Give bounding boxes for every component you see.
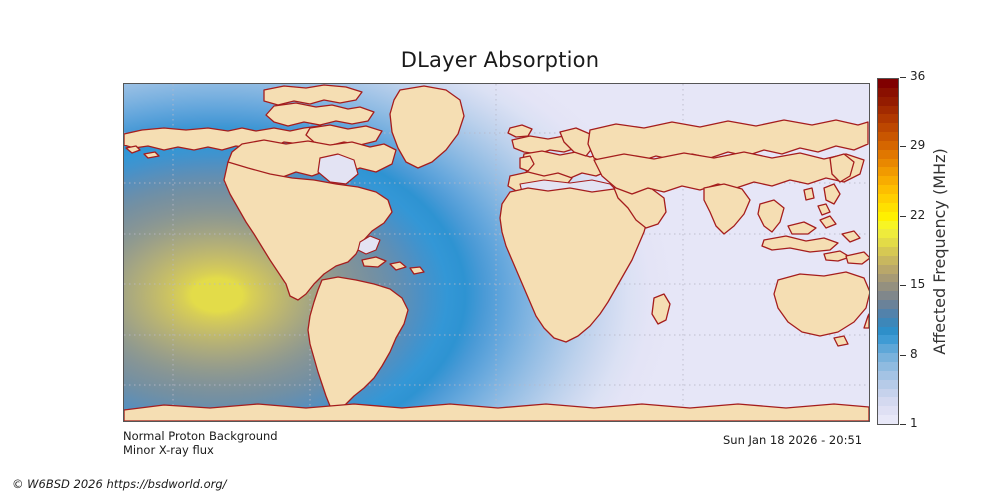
colorbar-segment — [878, 159, 898, 168]
colorbar-tick-label: 36 — [910, 69, 925, 83]
colorbar-segment — [878, 203, 898, 212]
page-title: DLayer Absorption — [0, 48, 1000, 72]
colorbar-segment — [878, 265, 898, 274]
colorbar-segment — [878, 309, 898, 318]
colorbar-segment — [878, 194, 898, 203]
colorbar-segment — [878, 318, 898, 327]
colorbar-tick-mark — [900, 424, 906, 425]
colorbar-segment — [878, 362, 898, 371]
colorbar-segment — [878, 79, 898, 88]
colorbar-segment — [878, 97, 898, 106]
colorbar-segment — [878, 406, 898, 415]
colorbar-tick-label: 8 — [910, 347, 918, 361]
colorbar-segment — [878, 371, 898, 380]
colorbar-segment — [878, 185, 898, 194]
colorbar-tick-mark — [900, 146, 906, 147]
colorbar-tick-label: 15 — [910, 277, 925, 291]
colorbar-segment — [878, 291, 898, 300]
colorbar-segment — [878, 123, 898, 132]
colorbar-segment — [878, 132, 898, 141]
proton-status: Normal Proton Background — [123, 429, 278, 443]
colorbar-segment — [878, 229, 898, 238]
colorbar-segment — [878, 88, 898, 97]
colorbar-segment — [878, 176, 898, 185]
colorbar-segment — [878, 106, 898, 115]
colorbar-segment — [878, 282, 898, 291]
copyright-footer: © W6BSD 2026 https://bsdworld.org/ — [12, 477, 227, 491]
colorbar-segment — [878, 238, 898, 247]
colorbar-segment — [878, 150, 898, 159]
colorbar-segment — [878, 380, 898, 389]
colorbar-segment — [878, 415, 898, 424]
colorbar-segment — [878, 114, 898, 123]
colorbar-axis-label: Affected Frequency (MHz) — [929, 78, 951, 425]
colorbar-segment — [878, 353, 898, 362]
map-canvas — [124, 84, 869, 421]
colorbar-segment — [878, 389, 898, 398]
colorbar-segment — [878, 300, 898, 309]
colorbar-tick-label: 29 — [910, 138, 925, 152]
colorbar-segment — [878, 212, 898, 221]
colorbar-tick-mark — [900, 285, 906, 286]
colorbar-segment — [878, 221, 898, 230]
colorbar-tick-mark — [900, 355, 906, 356]
colorbar-segment — [878, 256, 898, 265]
timestamp: Sun Jan 18 2026 - 20:51 — [723, 433, 862, 447]
colorbar-segment — [878, 247, 898, 256]
colorbar-segment — [878, 167, 898, 176]
colorbar-segment — [878, 335, 898, 344]
colorbar-segment — [878, 327, 898, 336]
status-caption: Normal Proton Background Minor X-ray flu… — [123, 429, 278, 457]
colorbar[interactable]: 3629221581 Max — [877, 78, 899, 425]
colorbar-segment — [878, 274, 898, 283]
colorbar-segment — [878, 397, 898, 406]
colorbar-gradient — [877, 78, 899, 425]
colorbar-tick-label: 1 — [910, 416, 918, 430]
world-map[interactable] — [123, 83, 870, 422]
xray-status: Minor X-ray flux — [123, 443, 278, 457]
colorbar-segment — [878, 141, 898, 150]
colorbar-tick-label: 22 — [910, 208, 925, 222]
colorbar-tick-mark — [900, 77, 906, 78]
colorbar-segment — [878, 344, 898, 353]
colorbar-tick-mark — [900, 216, 906, 217]
